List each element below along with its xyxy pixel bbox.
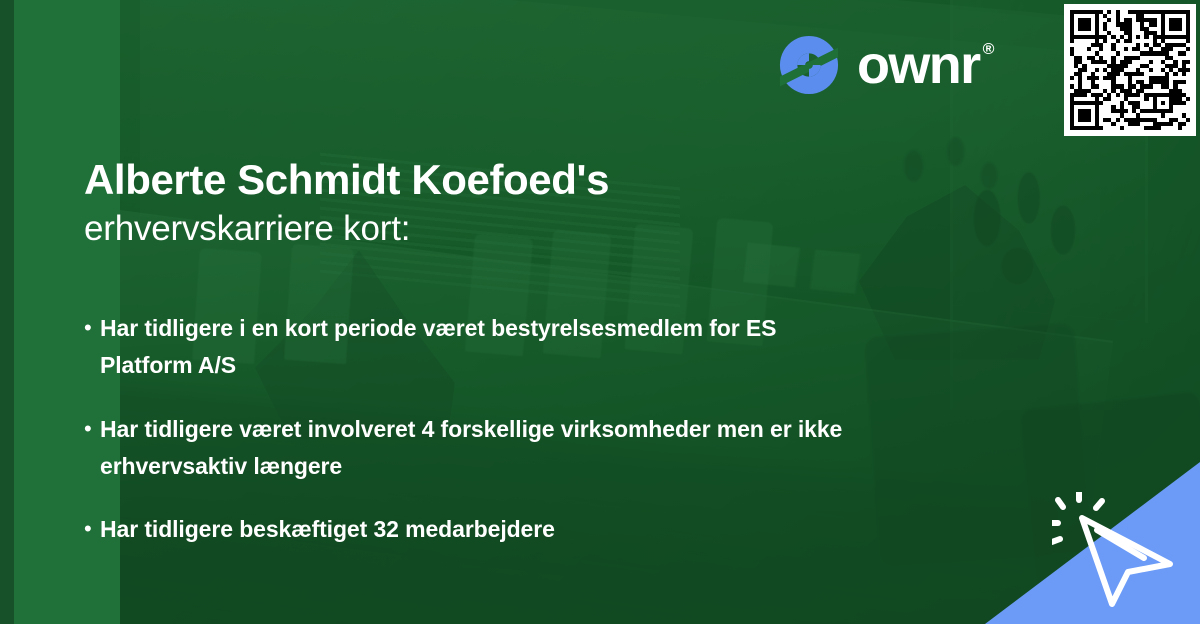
click-cursor-icon [1052, 492, 1182, 610]
list-item: • Har tidligere beskæftiget 32 medarbejd… [84, 511, 1044, 548]
brand-wordmark: ownr ® [857, 38, 993, 92]
list-item-text: Har tidligere beskæftiget 32 medarbejder… [100, 511, 555, 548]
headline-line-2: erhvervskarriere kort: [84, 206, 984, 252]
qr-code-matrix [1070, 10, 1190, 130]
list-item-text: Har tidligere været involveret 4 forskel… [100, 411, 860, 486]
left-edge-stripe [0, 0, 14, 624]
list-item: • Har tidligere i en kort periode været … [84, 310, 1044, 385]
bullet-marker-icon: • [84, 512, 100, 548]
list-item-text: Har tidligere i en kort periode været be… [100, 310, 860, 385]
qr-code-icon[interactable] [1064, 4, 1196, 136]
registered-trademark-icon: ® [983, 42, 993, 58]
bullet-marker-icon: • [84, 311, 100, 385]
career-facts-list: • Har tidligere i en kort periode været … [84, 310, 1044, 548]
brand-lockup: ownr ® [778, 34, 993, 96]
ownr-circle-logo-icon [778, 34, 840, 96]
headline-line-1: Alberte Schmidt Koefoed's [84, 155, 984, 204]
ownr-profile-card: ownr ® Alberte Schmidt Koefoed's erhverv… [0, 0, 1200, 624]
brand-name-text: ownr [857, 38, 980, 92]
page-title: Alberte Schmidt Koefoed's erhvervskarrie… [84, 155, 984, 252]
bullet-marker-icon: • [84, 412, 100, 486]
list-item: • Har tidligere været involveret 4 forsk… [84, 411, 1044, 486]
